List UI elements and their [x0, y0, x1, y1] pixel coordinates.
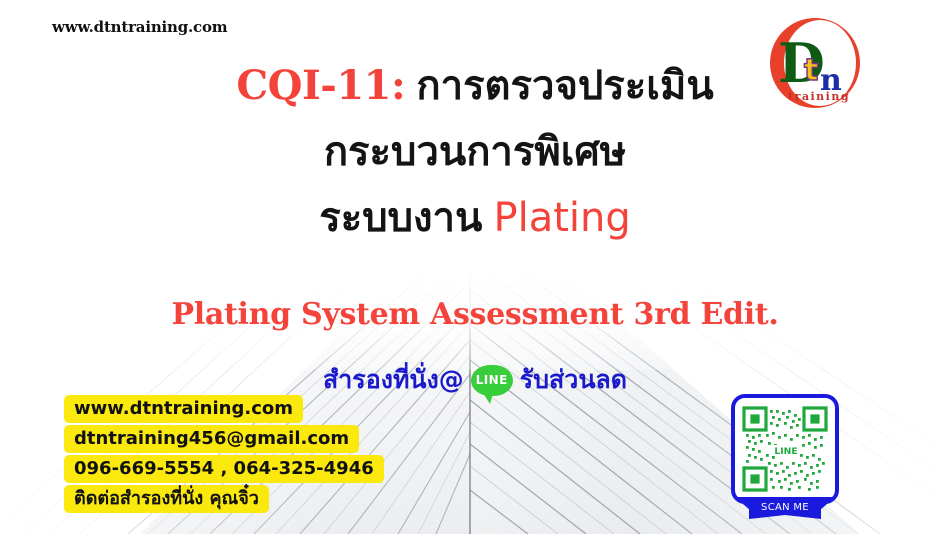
course-code: CQI-11:	[236, 62, 405, 109]
poster-canvas: www.dtntraining.com D t t n training CQI…	[0, 0, 950, 534]
contact-person: ติดต่อสำรองที่นั่ง คุณจิ๋ว	[64, 485, 269, 513]
promo-text-before: สำรองที่นั่ง@	[323, 365, 464, 394]
line-qr-card[interactable]: LINE	[731, 394, 839, 504]
headline-plating: Plating	[493, 195, 630, 241]
promo-text-after: รับส่วนลด	[520, 365, 627, 394]
line-chat-icon: LINE	[471, 365, 513, 396]
line-icon-label: LINE	[471, 365, 513, 396]
qr-code-image: LINE	[742, 406, 828, 492]
site-url-top: www.dtntraining.com	[52, 18, 227, 36]
contact-row[interactable]: www.dtntraining.com	[64, 395, 384, 423]
contact-row[interactable]: dtntraining456@gmail.com	[64, 425, 384, 453]
contact-row: ติดต่อสำรองที่นั่ง คุณจิ๋ว	[64, 485, 384, 513]
headline-line-3-thai: ระบบงาน	[319, 195, 482, 241]
headline-line-1: CQI-11: การตรวจประเมิน	[0, 66, 950, 106]
qr-center-label: LINE	[774, 446, 797, 457]
contact-phones[interactable]: 096-669-5554 , 064-325-4946	[64, 455, 384, 483]
contact-info-block: www.dtntraining.com dtntraining456@gmail…	[64, 395, 384, 515]
contact-website[interactable]: www.dtntraining.com	[64, 395, 303, 423]
headline-line-3: ระบบงาน Plating	[0, 198, 950, 238]
contact-email[interactable]: dtntraining456@gmail.com	[64, 425, 359, 453]
subtitle-english: Plating System Assessment 3rd Edit.	[0, 297, 950, 332]
headline-line-2: กระบวนการพิเศษ	[0, 132, 950, 172]
headline-block: CQI-11: การตรวจประเมิน กระบวนการพิเศษ ระ…	[0, 66, 950, 252]
headline-line-1-thai: การตรวจประเมิน	[416, 63, 713, 109]
contact-row[interactable]: 096-669-5554 , 064-325-4946	[64, 455, 384, 483]
